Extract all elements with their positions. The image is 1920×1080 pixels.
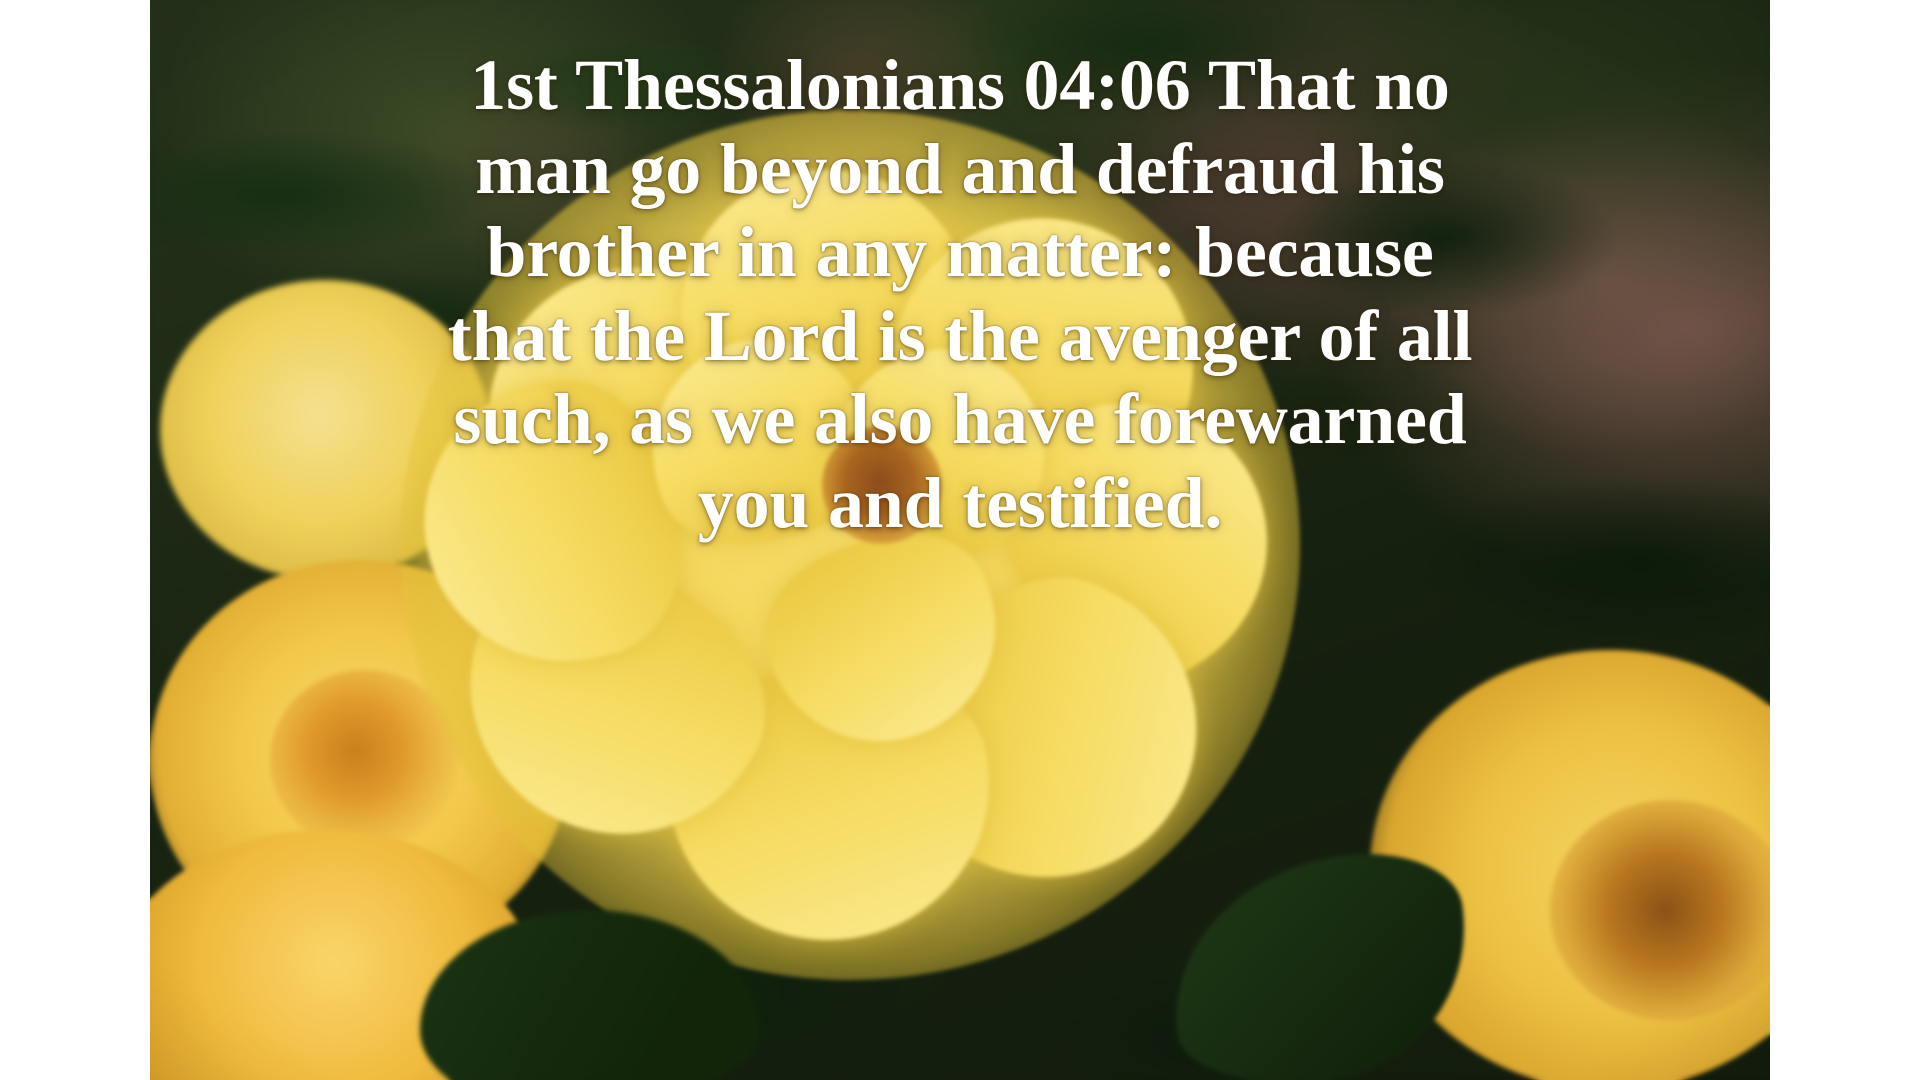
screenshot-canvas: 1st Thessalonians 04:06 That noman go be… [0, 0, 1920, 1080]
rose-main-center [822, 426, 942, 544]
rose-main [440, 150, 1260, 940]
rose-right-center [1550, 800, 1770, 1020]
yellow-roses-photo: 1st Thessalonians 04:06 That noman go be… [150, 0, 1770, 1080]
